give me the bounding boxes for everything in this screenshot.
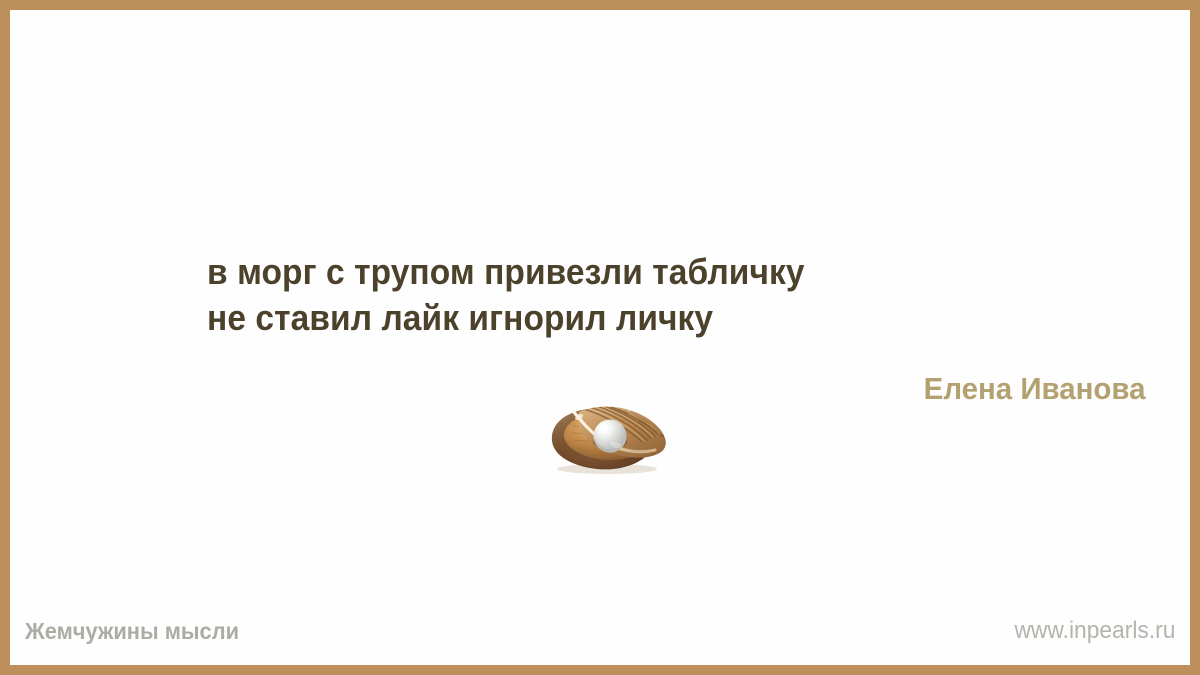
quote-line-2: не ставил лайк игнорил личку: [207, 295, 988, 341]
site-name[interactable]: Жемчужины мысли: [25, 618, 239, 645]
site-url[interactable]: www.inpearls.ru: [1014, 617, 1175, 645]
seashell-with-pearl-icon: [543, 396, 675, 476]
footer: Жемчужины мысли www.inpearls.ru: [10, 615, 1190, 647]
quote-text-block: в морг с трупом привезли табличку не ста…: [207, 249, 1047, 341]
quote-line-1: в морг с трупом привезли табличку: [207, 249, 988, 295]
author-name[interactable]: Елена Иванова: [923, 370, 1145, 408]
quote-card: в морг с трупом привезли табличку не ста…: [0, 0, 1200, 675]
